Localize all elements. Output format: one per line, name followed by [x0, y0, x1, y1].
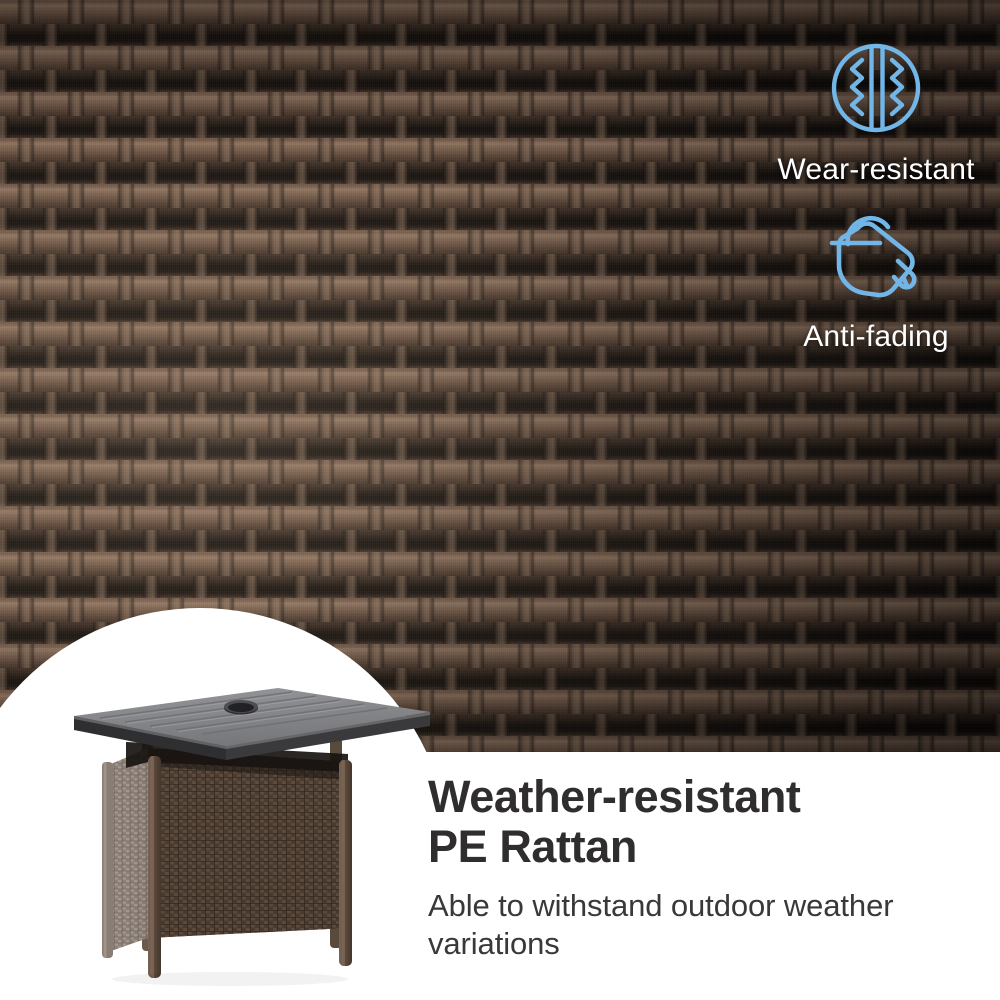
heading-line-2: PE Rattan	[428, 821, 637, 872]
paint-bucket-icon	[824, 205, 928, 310]
subheading: Able to withstand outdoor weather variat…	[428, 887, 988, 963]
page-title: Weather-resistant PE Rattan	[428, 772, 988, 873]
product-banner: Wear-resistant Anti-fading	[0, 0, 1000, 1000]
product-image-side-table	[30, 676, 430, 1000]
feature-wear-resistant-label: Wear-resistant	[777, 155, 974, 185]
feature-anti-fading: Anti-fading	[756, 205, 996, 352]
heading-line-1: Weather-resistant	[428, 771, 801, 822]
abrasion-circle-icon	[830, 42, 922, 139]
feature-anti-fading-label: Anti-fading	[803, 322, 949, 352]
copy-block: Weather-resistant PE Rattan Able to with…	[428, 772, 988, 962]
feature-wear-resistant: Wear-resistant	[756, 42, 996, 185]
